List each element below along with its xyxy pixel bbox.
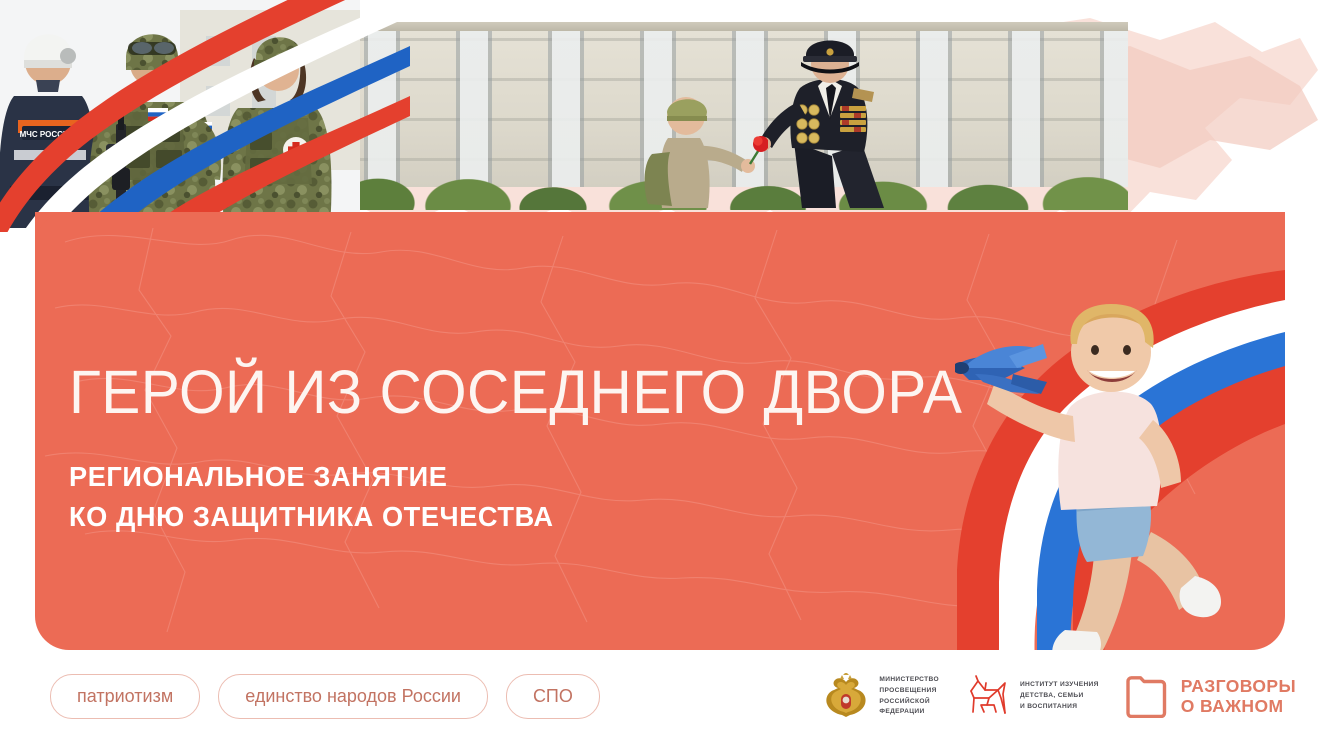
double-headed-eagle-icon [822, 673, 870, 721]
logo-ministry-of-education: МИНИСТЕРСТВО ПРОСВЕЩЕНИЯ РОССИЙСКОЙ ФЕДЕ… [822, 673, 939, 721]
page-subtitle: РЕГИОНАЛЬНОЕ ЗАНЯТИЕ КО ДНЮ ЗАЩИТНИКА ОТ… [69, 457, 972, 537]
page-title: ГЕРОЙ ИЗ СОСЕДНЕГО ДВОРА [69, 362, 962, 423]
razgovory-text: РАЗГОВОРЫ О ВАЖНОМ [1181, 677, 1296, 716]
boy-with-toy-plane [955, 270, 1285, 650]
poster-text-block: ГЕРОЙ ИЗ СОСЕДНЕГО ДВОРА РЕГИОНАЛЬНОЕ ЗА… [69, 362, 1000, 537]
svg-text:МЧС РОССИИ: МЧС РОССИИ [20, 130, 75, 139]
logo-institute: ИНСТИТУТ ИЗУЧЕНИЯ ДЕТСТВА, СЕМЬИ И ВОСПИ… [965, 674, 1099, 720]
tag-spo[interactable]: СПО [506, 674, 600, 719]
photo-service-people: МЧС РОССИИ [0, 0, 360, 228]
tag-edinstvo-narodov-rossii[interactable]: единство народов России [218, 674, 488, 719]
header-photo-band: МЧС РОССИИ [0, 0, 1320, 232]
veteran-figure [758, 32, 938, 210]
deer-line-icon [965, 674, 1011, 720]
speech-folder-icon [1125, 676, 1171, 718]
tricolor-ribbon-right [957, 270, 1285, 650]
logo-group: МИНИСТЕРСТВО ПРОСВЕЩЕНИЯ РОССИЙСКОЙ ФЕДЕ… [822, 673, 1296, 721]
subtitle-line-2: КО ДНЮ ЗАЩИТНИКА ОТЕЧЕСТВА [69, 497, 972, 537]
logo-razgovory-o-vazhnom: РАЗГОВОРЫ О ВАЖНОМ [1125, 676, 1296, 718]
boy-with-carnation [638, 80, 768, 210]
institute-caption: ИНСТИТУТ ИЗУЧЕНИЯ ДЕТСТВА, СЕМЬИ И ВОСПИ… [1020, 680, 1099, 712]
ministry-caption: МИНИСТЕРСТВО ПРОСВЕЩЕНИЯ РОССИЙСКОЙ ФЕДЕ… [879, 675, 939, 718]
main-red-card: ГЕРОЙ ИЗ СОСЕДНЕГО ДВОРА РЕГИОНАЛЬНОЕ ЗА… [35, 212, 1285, 650]
subtitle-line-1: РЕГИОНАЛЬНОЕ ЗАНЯТИЕ [69, 457, 972, 497]
poster-root: МЧС РОССИИ [0, 0, 1320, 743]
footer-bar: патриотизм единство народов России СПО [0, 650, 1320, 743]
red-cross-icon [283, 137, 309, 163]
building-cornice [338, 22, 1128, 31]
tag-list: патриотизм единство народов России СПО [50, 674, 600, 719]
card-top-left-fill [35, 212, 375, 256]
photo-veteran-and-boy [338, 0, 1128, 210]
tag-patriotizm[interactable]: патриотизм [50, 674, 200, 719]
